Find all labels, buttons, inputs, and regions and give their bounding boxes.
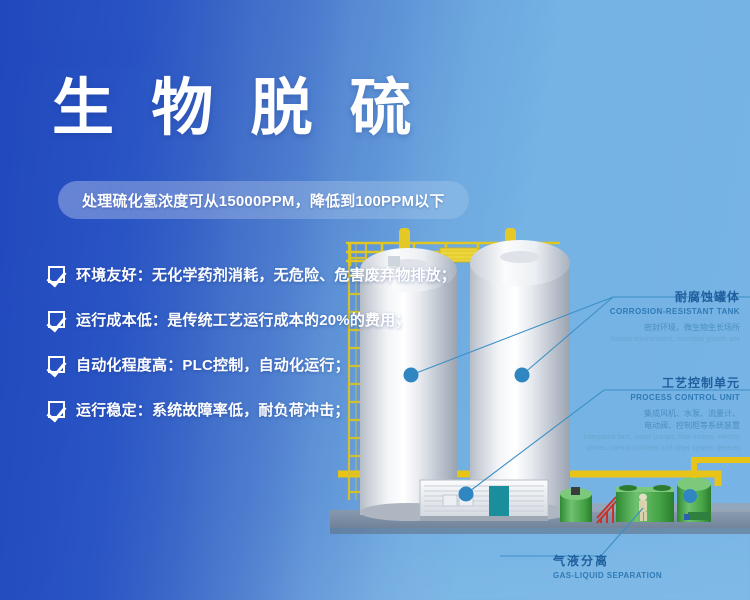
subtitle-badge: 处理硫化氢浓度可从15000PPM，降低到100PPM以下 (58, 181, 469, 219)
feature-list: 环境友好：无化学药剂消耗，无危险、危害废弃物排放； 运行成本低：是传统工艺运行成… (48, 262, 478, 442)
worker-figure (639, 494, 647, 521)
marker-control-unit (459, 487, 474, 502)
callout-corrosion-resistant-tank: 耐腐蚀罐体 CORROSION-RESISTANT TANK 密封环境，微生物生… (510, 288, 740, 346)
list-item: 环境友好：无化学药剂消耗，无危险、危害废弃物排放； (48, 262, 478, 286)
feature-label: 运行成本低：是传统工艺运行成本的20%的费用； (76, 309, 411, 330)
callout-title-cn: 工艺控制单元 (490, 374, 740, 391)
feature-label: 环境友好：无化学药剂消耗，无危险、危害废弃物排放； (76, 264, 456, 285)
list-item: 运行稳定：系统故障率低，耐负荷冲击； (48, 397, 478, 421)
callout-title-cn: 气液分离 (553, 552, 703, 569)
checkbox-check-icon (48, 311, 65, 328)
callout-desc-en: Sealed environment, microbial growth sit… (510, 335, 740, 346)
callout-title-en: CORROSION-RESISTANT TANK (510, 307, 740, 316)
marker-gas-liquid-separation (683, 489, 697, 503)
checkbox-check-icon (48, 266, 65, 283)
callout-process-control-unit: 工艺控制单元 PROCESS CONTROL UNIT 集成风机、水泵、流量计、… (490, 374, 740, 454)
list-item: 自动化程度高：PLC控制，自动化运行； (48, 352, 478, 376)
control-container (420, 480, 548, 521)
callout-title-cn: 耐腐蚀罐体 (510, 288, 740, 305)
feature-label: 自动化程度高：PLC控制，自动化运行； (76, 354, 350, 375)
callout-gas-liquid-separation: 气液分离 GAS-LIQUID SEPARATION (553, 552, 703, 580)
callout-title-en: PROCESS CONTROL UNIT (490, 393, 740, 402)
feature-label: 运行稳定：系统故障率低，耐负荷冲击； (76, 399, 350, 420)
callout-desc-cn: 密封环境，微生物生长场所 (510, 322, 740, 334)
poster-canvas: 生 物 脱 硫 处理硫化氢浓度可从15000PPM，降低到100PPM以下 环境… (0, 0, 750, 600)
checkbox-check-icon (48, 356, 65, 373)
page-title: 生 物 脱 硫 (52, 76, 422, 141)
callout-desc-cn: 集成风机、水泵、流量计、 电动阀、控制柜等系统装置 (490, 408, 740, 432)
callout-desc-en: Integrated fans, water pumps, flow meter… (490, 433, 740, 454)
checkbox-check-icon (48, 401, 65, 418)
list-item: 运行成本低：是传统工艺运行成本的20%的费用； (48, 307, 478, 331)
callout-title-en: GAS-LIQUID SEPARATION (553, 571, 703, 580)
